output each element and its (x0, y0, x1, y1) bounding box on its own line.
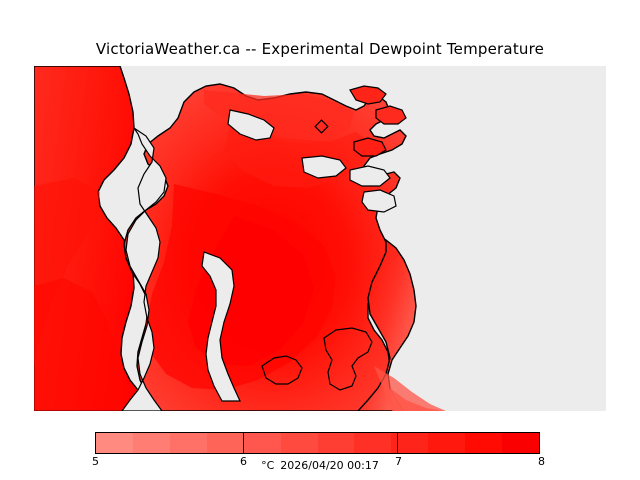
colorbar-timestamp: 2026/04/20 00:17 (280, 459, 379, 472)
colorbar-segment-6 (318, 433, 355, 453)
colorbar-segment-10 (465, 433, 502, 453)
colorbar-segment-9 (428, 433, 465, 453)
colorbar-tick-6 (243, 432, 244, 454)
colorbar-segment-2 (170, 433, 207, 453)
dewpoint-heatmap-svg (34, 66, 606, 411)
colorbar-caption: °C2026/04/20 00:17 (0, 459, 640, 472)
page-title: VictoriaWeather.ca -- Experimental Dewpo… (0, 40, 640, 58)
colorbar-segment-3 (207, 433, 244, 453)
colorbar[interactable]: 5 6 7 8 (95, 432, 540, 454)
colorbar-segment-1 (133, 433, 170, 453)
colorbar-segment-5 (281, 433, 318, 453)
colorbar-segment-4 (244, 433, 281, 453)
colorbar-segment-0 (96, 433, 133, 453)
colorbar-gradient (95, 432, 540, 454)
colorbar-segment-7 (354, 433, 391, 453)
colorbar-segment-11 (502, 433, 539, 453)
weather-map-page: VictoriaWeather.ca -- Experimental Dewpo… (0, 0, 640, 480)
colorbar-unit: °C (261, 459, 274, 472)
colorbar-tick-7 (397, 432, 398, 454)
map-plot-area[interactable] (34, 66, 606, 411)
